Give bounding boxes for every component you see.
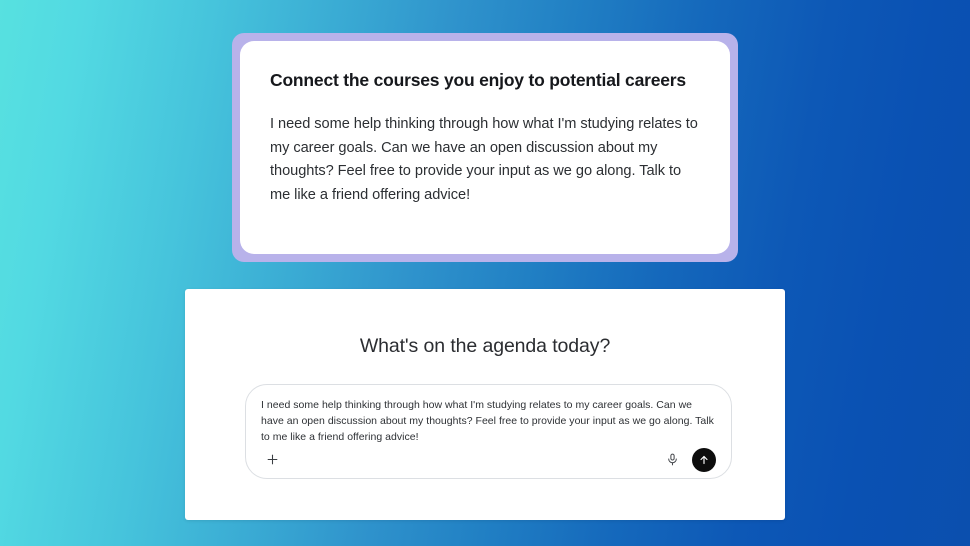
attach-button[interactable] [261,449,283,471]
composer-toolbar-right [661,448,716,472]
microphone-icon [666,453,679,466]
voice-input-button[interactable] [661,449,683,471]
composer[interactable]: I need some help thinking through how wh… [245,384,732,479]
prompt-card-frame: Connect the courses you enjoy to potenti… [232,33,738,262]
composer-toolbar [261,445,716,478]
arrow-up-icon [698,454,710,466]
prompt-card-title: Connect the courses you enjoy to potenti… [270,69,706,92]
chat-panel: What's on the agenda today? I need some … [185,289,785,520]
composer-input[interactable]: I need some help thinking through how wh… [261,397,716,445]
agenda-heading: What's on the agenda today? [185,335,785,358]
send-button[interactable] [692,448,716,472]
prompt-card-body: I need some help thinking through how wh… [270,113,702,208]
prompt-card: Connect the courses you enjoy to potenti… [240,41,730,254]
plus-icon [265,452,280,467]
composer-toolbar-left [261,449,283,471]
